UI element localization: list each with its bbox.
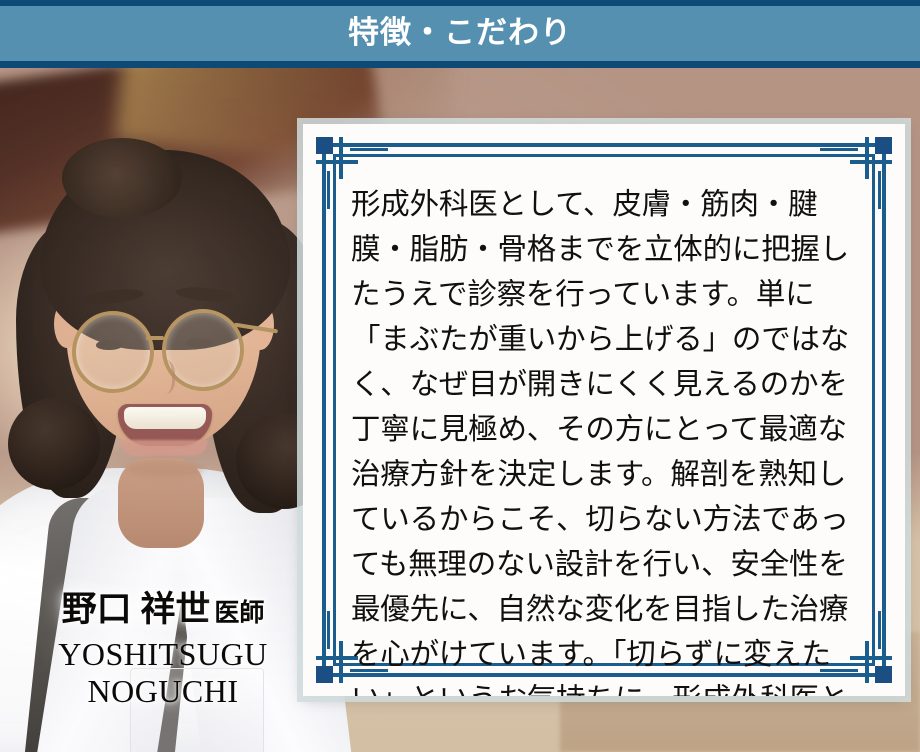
frame-line-top-inner <box>333 154 875 157</box>
card-frame: 形成外科医として、皮膚・筋肉・腱膜・脂肪・骨格までを立体的に把握したうえで診察を… <box>303 124 905 696</box>
doctor-name-en-first: YOSHITSUGU <box>28 636 298 673</box>
doctor-title-japanese: 医師 <box>214 600 264 627</box>
page-title: 特徴・こだわり <box>348 17 572 50</box>
corner-stub-vertical-outer <box>339 641 343 683</box>
frame-line-right-outer <box>882 143 886 677</box>
corner-stub-vertical-inner <box>327 611 330 649</box>
doctor-name-en-last: NOGUCHI <box>28 673 298 710</box>
corner-stub-vertical-outer <box>339 137 343 179</box>
doctor-name-ja-text: 野口 祥世 <box>62 590 211 629</box>
corner-stub-vertical-inner <box>878 171 881 209</box>
corner-stub-horizontal-inner <box>820 148 858 151</box>
corner-square-icon <box>875 137 892 154</box>
feature-text-card: 形成外科医として、皮膚・筋肉・腱膜・脂肪・骨格までを立体的に把握したうえで診察を… <box>303 124 905 696</box>
corner-stub-horizontal-outer <box>316 160 358 164</box>
feature-banner-screen: 特徴・こだわり <box>0 0 920 752</box>
doctor-name-block: 野口 祥世医師 YOSHITSUGU NOGUCHI <box>28 588 298 710</box>
feature-description-text: 形成外科医として、皮膚・筋肉・腱膜・脂肪・骨格までを立体的に把握したうえで診察を… <box>351 182 861 696</box>
corner-stub-vertical-outer <box>865 641 869 683</box>
corner-stub-vertical-outer <box>865 137 869 179</box>
corner-square-icon <box>316 666 333 683</box>
frame-line-right-inner <box>872 154 875 666</box>
doctor-name-japanese: 野口 祥世医師 <box>28 588 298 636</box>
corner-stub-vertical-inner <box>878 611 881 649</box>
frame-line-top-outer <box>322 143 886 147</box>
corner-stub-horizontal-inner <box>350 148 388 151</box>
corner-square-icon <box>316 137 333 154</box>
frame-line-left-inner <box>333 154 336 666</box>
corner-square-icon <box>875 666 892 683</box>
corner-stub-horizontal-outer <box>850 160 892 164</box>
corner-stub-vertical-inner <box>327 171 330 209</box>
page-header: 特徴・こだわり <box>0 0 920 68</box>
frame-line-left-outer <box>322 143 326 677</box>
